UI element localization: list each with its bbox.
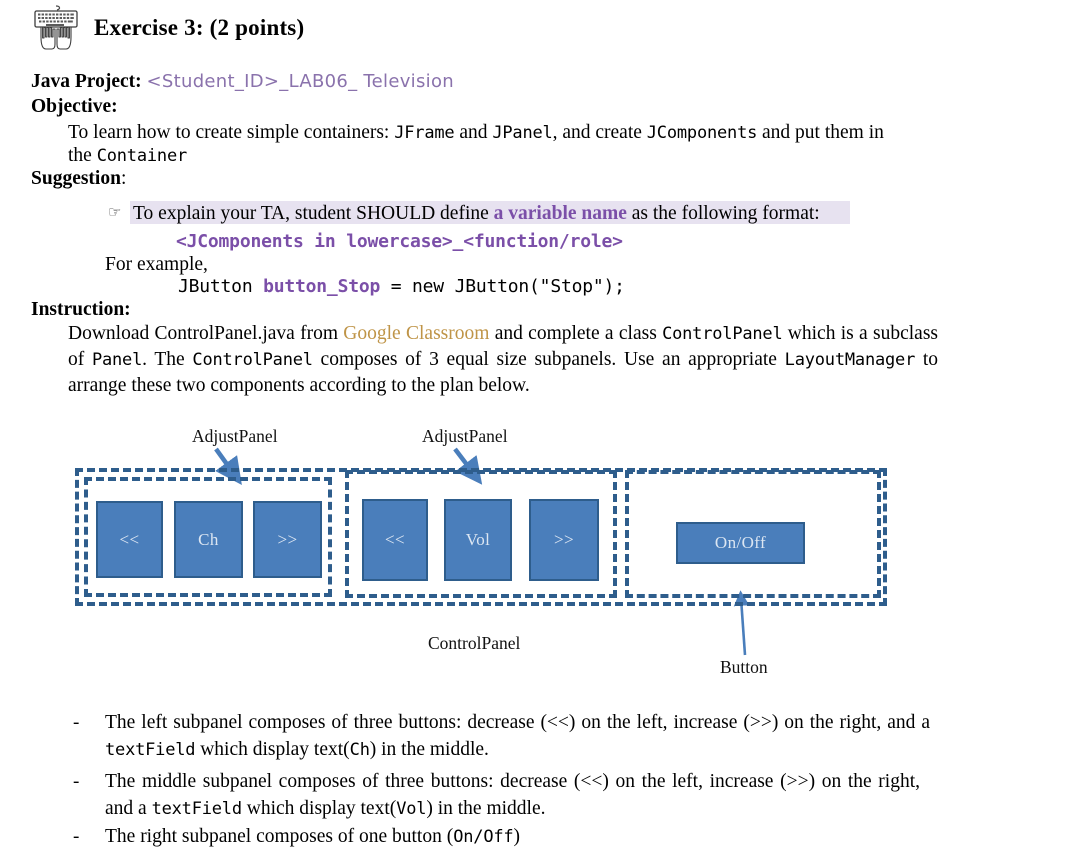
arrow-adjustpanel-left <box>216 449 234 474</box>
container-code: Container <box>97 146 187 166</box>
suggestion-label: Suggestion <box>31 168 121 189</box>
bullet-marker-3: - <box>73 826 79 848</box>
exercise-header: Exercise 3: (2 points) <box>30 4 304 52</box>
objective-text-line-1: To learn how to create simple containers… <box>68 121 884 145</box>
objective-text-line-2: the Container <box>68 144 187 168</box>
label-button: Button <box>720 657 768 678</box>
channel-textfield[interactable]: Ch <box>174 501 243 578</box>
bullet-3-text-b: ) <box>513 826 520 847</box>
example-code-suffix: = new JButton("Stop"); <box>380 276 625 297</box>
variable-format-code: <JComponents in lowercase>_<function/rol… <box>176 230 623 253</box>
suggestion-label-line: Suggestion: <box>31 167 126 190</box>
channel-increase-button[interactable]: >> <box>253 501 322 578</box>
suggestion-line-1: To explain your TA, student SHOULD defin… <box>133 202 820 225</box>
suggestion-colon: : <box>121 168 126 189</box>
bullet-marker-2: - <box>73 771 79 793</box>
for-example-label: For example, <box>105 253 208 276</box>
java-project-colon: : <box>135 71 142 92</box>
bullet-2-text-c: ) in the middle. <box>426 798 545 819</box>
jpanel-code: JPanel <box>492 123 552 143</box>
bullet-1-ch-code: Ch <box>350 740 370 760</box>
example-code-prefix: JButton <box>178 276 263 297</box>
instruction-paragraph: Download ControlPanel.java from Google C… <box>68 321 938 398</box>
bullet-1-text-c: ) in the middle. <box>370 739 489 760</box>
objective-text-d: and put them in <box>757 122 884 143</box>
document-page: Exercise 3: (2 points) Java Project: <St… <box>0 0 1080 866</box>
layoutmanager-code: LayoutManager <box>785 350 915 370</box>
bullet-2-text-b: which display text( <box>242 798 396 819</box>
java-project-label: Java Project <box>31 71 135 92</box>
objective-text-b: and <box>454 122 492 143</box>
pointing-hand-icon: ☞ <box>108 203 121 222</box>
bullet-item-2: The middle subpanel composes of three bu… <box>105 768 920 823</box>
instruction-text-f: composes of 3 equal size subpanels. Use … <box>313 349 777 370</box>
suggestion-text-b: as the following format: <box>627 203 820 224</box>
example-variable-name: button_Stop <box>263 276 380 297</box>
objective-text-c: , and create <box>553 122 647 143</box>
bullet-3-text-a: The right subpanel composes of one butto… <box>105 826 453 847</box>
bullet-item-3: The right subpanel composes of one butto… <box>105 823 930 851</box>
instruction-label: Instruction: <box>31 298 131 321</box>
bullet-1-text-a: and a <box>887 712 930 733</box>
arrow-button <box>741 598 745 655</box>
objective-label: Objective <box>31 96 111 117</box>
arrow-adjustpanel-middle <box>455 449 474 474</box>
right-button-panel-box <box>625 470 881 598</box>
left-adjustpanel-box <box>84 477 332 597</box>
jcomponents-code: JComponents <box>647 123 757 143</box>
controlpanel-code-2: ControlPanel <box>192 350 312 370</box>
instruction-text-a: Download ControlPanel.java from <box>68 323 343 344</box>
volume-textfield[interactable]: Vol <box>444 499 512 581</box>
jframe-code: JFrame <box>394 123 454 143</box>
bullet-1-text-b: which display text( <box>195 739 349 760</box>
bullet-1-line-1: The left subpanel composes of three butt… <box>105 712 881 733</box>
onoff-button[interactable]: On/Off <box>676 522 805 564</box>
java-project-value: <Student_ID>_LAB06_ Television <box>147 71 454 92</box>
volume-decrease-button[interactable]: << <box>362 499 428 581</box>
keyboard-hands-icon <box>30 4 82 52</box>
suggestion-text-a: To explain your TA, student SHOULD defin… <box>133 203 494 224</box>
panel-code: Panel <box>92 350 142 370</box>
objective-colon: : <box>111 96 118 117</box>
label-controlpanel: ControlPanel <box>428 633 520 654</box>
bullet-2-textfield-code: textField <box>152 799 242 819</box>
page-title: Exercise 3: (2 points) <box>94 15 304 41</box>
bullet-2-text-a: and a <box>105 798 152 819</box>
bullet-item-1: The left subpanel composes of three butt… <box>105 709 930 764</box>
objective-text-e: the <box>68 145 97 166</box>
example-code-line: JButton button_Stop = new JButton("Stop"… <box>178 275 625 298</box>
channel-decrease-button[interactable]: << <box>96 501 163 578</box>
google-classroom-link[interactable]: Google Classroom <box>343 323 489 344</box>
bullet-1-textfield-code: textField <box>105 740 195 760</box>
controlpanel-outer-box <box>75 468 887 606</box>
objective-text-a: To learn how to create simple containers… <box>68 122 394 143</box>
bullet-2-line-1: The middle subpanel composes of three bu… <box>105 771 920 792</box>
instruction-text-c: which is a <box>783 323 868 344</box>
controlpanel-code-1: ControlPanel <box>662 324 782 344</box>
bullet-3-onoff-code: On/Off <box>453 827 513 847</box>
bullet-2-vol-code: Vol <box>396 799 426 819</box>
bullet-marker-1: - <box>73 712 79 734</box>
instruction-text-b: and complete a class <box>489 323 662 344</box>
label-adjustpanel-middle: AdjustPanel <box>422 426 508 447</box>
instruction-text-e: . The <box>142 349 192 370</box>
volume-increase-button[interactable]: >> <box>529 499 599 581</box>
variable-name-emphasis: a variable name <box>494 203 627 224</box>
middle-adjustpanel-box <box>345 470 617 598</box>
java-project-line: Java Project: <Student_ID>_LAB06_ Televi… <box>31 70 454 93</box>
label-adjustpanel-left: AdjustPanel <box>192 426 278 447</box>
objective-label-line: Objective: <box>31 95 118 118</box>
